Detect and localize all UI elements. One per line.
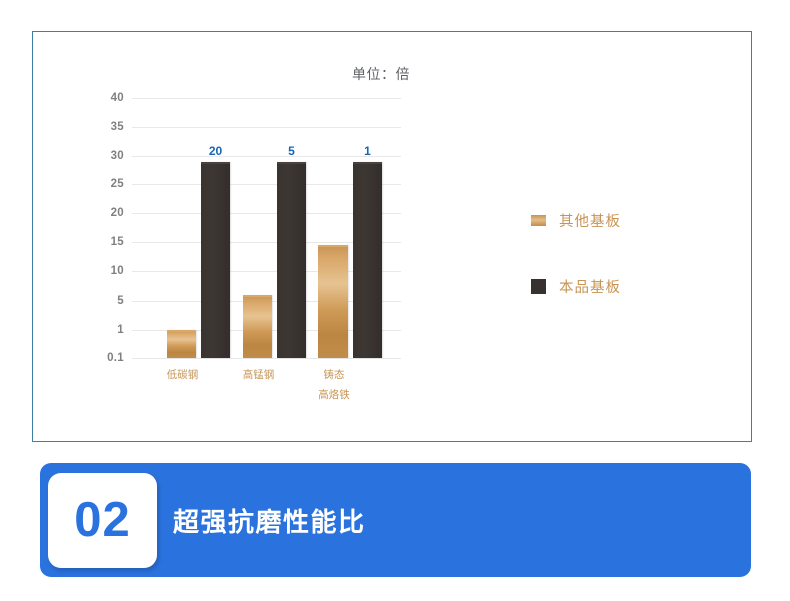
chart-legend: 其他基板 本品基板 [531, 187, 621, 319]
x-axis-category-label: 高锰钢 [243, 366, 275, 386]
y-axis-tick-label: 10 [111, 265, 124, 277]
y-axis-tick-label: 15 [111, 236, 124, 248]
y-axis-tick-label: 0.1 [107, 352, 124, 364]
bar-this-substrate [201, 162, 230, 358]
y-axis-tick-label: 25 [111, 178, 124, 190]
chart-unit-title: 单位：倍 [316, 64, 446, 84]
y-axis-tick-label: 1 [117, 324, 124, 336]
y-axis-tick-label: 20 [111, 207, 124, 219]
legend-label-other-substrate: 其他基板 [559, 210, 621, 231]
x-axis-category-label: 低碳钢 [167, 366, 199, 386]
bar-data-label: 20 [209, 144, 222, 158]
chart-plot-area: 40353025201510510.120低碳钢5高锰钢1铸态高烙铁 [132, 98, 401, 358]
section-number-badge: 02 [48, 473, 157, 568]
bar-data-label: 5 [288, 144, 295, 158]
bar-this-substrate [277, 162, 306, 358]
chart-card: 单位：倍 40353025201510510.120低碳钢5高锰钢1铸态高烙铁 … [32, 31, 752, 442]
section-number: 02 [74, 496, 131, 545]
y-axis-tick-label: 35 [111, 121, 124, 133]
bar-other-substrate [318, 245, 348, 358]
chart-gridline [132, 358, 401, 359]
y-axis-tick-label: 40 [111, 92, 124, 104]
legend-item-this-substrate[interactable]: 本品基板 [531, 253, 621, 319]
y-axis-tick-label: 5 [117, 295, 124, 307]
legend-swatch-dark-icon [531, 279, 546, 294]
legend-item-other-substrate[interactable]: 其他基板 [531, 187, 621, 253]
bar-data-label: 1 [364, 144, 371, 158]
bar-other-substrate [243, 295, 272, 358]
chart-gridline [132, 98, 401, 99]
section-heading: 超强抗磨性能比 [173, 463, 366, 577]
y-axis-tick-label: 30 [111, 150, 124, 162]
legend-label-this-substrate: 本品基板 [559, 276, 621, 297]
bar-other-substrate [167, 330, 196, 358]
chart-gridline [132, 127, 401, 128]
bar-this-substrate [353, 162, 382, 358]
x-axis-category-label: 铸态高烙铁 [318, 366, 350, 406]
legend-swatch-gold-icon [531, 215, 546, 226]
chart-gridline [132, 156, 401, 157]
section-banner: 02 超强抗磨性能比 [40, 463, 751, 577]
